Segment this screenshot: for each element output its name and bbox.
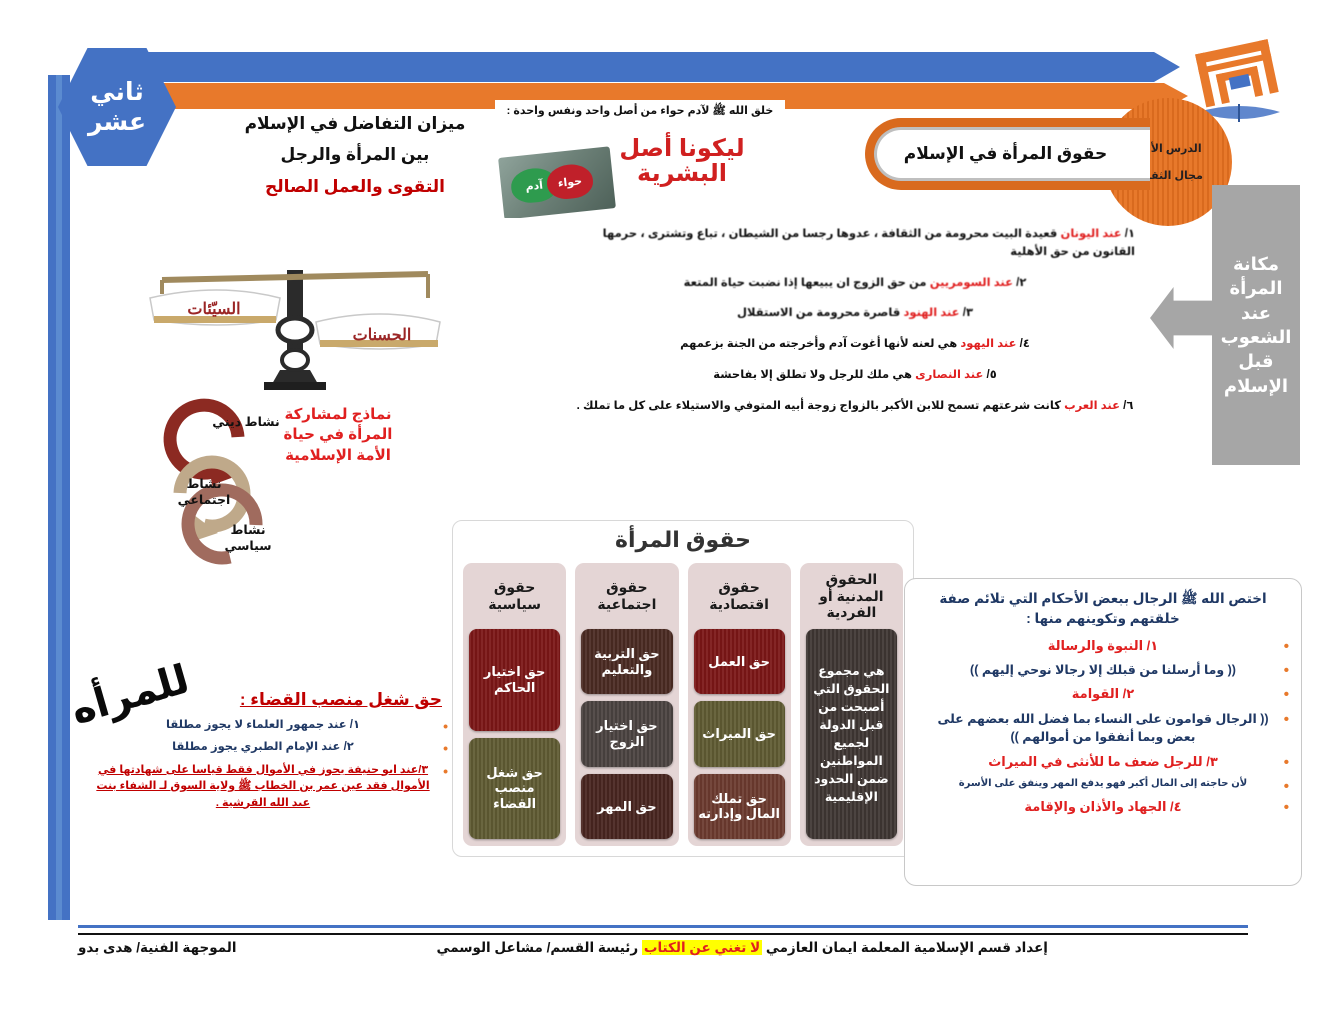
item-number: ٣/ <box>963 307 973 319</box>
cycle-label-social: نشاط اجتماعي <box>162 477 246 508</box>
footer-divider-black <box>78 933 1248 935</box>
pre-islam-list: ١/ عند اليونان قعيدة البيت محرومة من الث… <box>575 226 1135 429</box>
item-number: ٤/ <box>1020 338 1030 350</box>
men-rulings-panel: اختص الله ﷺ الرجال ببعض الأحكام التي تلا… <box>904 578 1302 886</box>
adam-eve-top-text: خلق الله ﷺ لآدم حواء من أصل واحد ونفس وا… <box>495 100 785 120</box>
list-item: ٣/ للرجل ضعف ما للأنثى في الميراث <box>917 753 1289 772</box>
rights-column-social: حقوق اجتماعية حق التربية والتعليم حق اخت… <box>575 563 678 846</box>
list-item: ٢/ عند السومريين من حق الزوج ان يبيعها إ… <box>575 275 1135 293</box>
list-item: ٢/ عند الإمام الطبري يجوز مطلقا <box>78 739 448 756</box>
rights-columns: حقوق سياسية حق اختيار الحاكم حق شغل منصب… <box>463 563 903 846</box>
list-item: ١/ عند اليونان قعيدة البيت محرومة من الث… <box>575 226 1135 262</box>
item-highlight: عند اليونان <box>1061 228 1122 240</box>
rights-chip: حق شغل منصب القضاء <box>469 738 560 840</box>
footer-divider-blue <box>78 925 1248 928</box>
page-title: حقوق المرأة في الإسلام <box>904 144 1107 164</box>
column-heading: حقوق اقتصادية <box>694 570 785 622</box>
poster-canvas: ثاني عشر الدرس الأول مجال الثقافة حقو <box>0 0 1320 1020</box>
men-rulings-heading: اختص الله ﷺ الرجال ببعض الأحكام التي تلا… <box>917 589 1289 630</box>
scale-pan-right-label: الحسنات <box>353 327 412 344</box>
rights-chip: حق اختيار الزوج <box>581 701 672 766</box>
item-text: قاصرة محرومة من الاستقلال <box>737 307 900 319</box>
list-item: ٣/عند ابو حنيفة يجوز في الأموال فقط قياس… <box>78 762 448 812</box>
rights-chip: حق التربية والتعليم <box>581 629 672 694</box>
item-text: كانت شرعتهم تسمح للابن الأكبر بالزواج زو… <box>577 400 1061 412</box>
item-highlight: عند السومريين <box>930 277 1013 289</box>
column-heading: حقوق اجتماعية <box>581 570 672 622</box>
rights-chart: حقوق المرأة حقوق سياسية حق اختيار الحاكم… <box>452 520 914 857</box>
item-highlight: عند العرب <box>1064 400 1120 412</box>
item-text: هي لعنه لأنها أغوت آدم وأخرجته من الجنة … <box>680 338 957 350</box>
item-highlight: عند النصارى <box>915 369 983 381</box>
item-text: من حق الزوج ان يبيعها إذا نضبت حياة المت… <box>684 277 927 289</box>
adam-eve-big-text: ليكونا أصل البشرية <box>587 136 777 186</box>
balance-heading-line3: التقوى والعمل الصالح <box>205 171 505 202</box>
list-item: ٤/ الجهاد والأذان والإقامة <box>917 798 1289 817</box>
rights-chip: حق اختيار الحاكم <box>469 629 560 731</box>
column-heading: حقوق سياسية <box>469 570 560 622</box>
balance-heading-line1: ميزان التفاضل في الإسلام <box>205 108 505 139</box>
rights-column-economic: حقوق اقتصادية حق العمل حق الميراث حق تمل… <box>688 563 791 846</box>
footer-highlight-note: لا تغني عن الكتاب <box>642 940 762 955</box>
footer-credits: إعداد قسم الإسلامية المعلمة ايمان العازم… <box>236 940 1248 956</box>
eve-leaf-icon: حواء <box>545 162 594 201</box>
rights-chip: حق الميراث <box>694 701 785 766</box>
adam-eve-card: خلق الله ﷺ لآدم حواء من أصل واحد ونفس وا… <box>495 100 785 218</box>
list-item: ٢/ القوامة <box>917 685 1289 704</box>
list-item: ٥/ عند النصارى هي ملك للرجل ولا تطلق إلا… <box>575 367 1135 385</box>
footer-credit-a: إعداد قسم الإسلامية المعلمة ايمان العازم… <box>766 940 1048 955</box>
cycle-caption: نماذج لمشاركة المرأة في حياة الأمة الإسل… <box>278 405 398 466</box>
scale-pan-left-label: السيّئات <box>187 301 240 318</box>
list-item: لأن حاجته إلى المال أكبر فهو يدفع المهر … <box>917 777 1289 792</box>
list-item: ٣/ عند الهنود قاصرة محرومة من الاستقلال <box>575 305 1135 323</box>
balance-scale-illustration: السيّئات الحسنات <box>140 252 450 397</box>
adam-eve-image: آدم حواء <box>498 146 616 218</box>
header-banner-blue <box>120 52 1180 82</box>
balance-heading-line2: بين المرأة والرجل <box>205 139 505 170</box>
item-number: ٦/ <box>1123 400 1133 412</box>
rights-column-civil: الحقوق المدنية أو الفردية هي مجموع الحقو… <box>800 563 903 846</box>
side-panel-text: مكانة المرأة عند الشعوب قبل الإسلام <box>1218 252 1294 398</box>
footer-supervisor: الموجهة الفنية/ هدى بدو <box>78 940 236 956</box>
item-highlight: عند الهنود <box>903 307 959 319</box>
item-number: ٢/ <box>1016 277 1026 289</box>
cycle-label-political: نشاط سياسي <box>206 523 290 554</box>
chapter-badge-line1: ثاني <box>90 77 143 107</box>
rights-chart-title: حقوق المرأة <box>453 527 913 553</box>
judiciary-item-underlined: ٣/عند ابو حنيفة يجوز في الأموال فقط قياس… <box>96 764 429 809</box>
list-item: (( وما أرسلنا من قبلك إلا رجالا نوحي إلي… <box>917 661 1289 679</box>
list-item: ٦/ عند العرب كانت شرعتهم تسمح للابن الأك… <box>575 398 1135 416</box>
side-panel-label: مكانة المرأة عند الشعوب قبل الإسلام <box>1212 185 1300 465</box>
rights-chip: حق العمل <box>694 629 785 694</box>
rights-chip: حق المهر <box>581 774 672 839</box>
item-text: هي ملك للرجل ولا تطلق إلا بفاحشة <box>713 369 912 381</box>
left-arrow-icon <box>1150 287 1212 349</box>
list-item: ٤/ عند اليهود هي لعنه لأنها أغوت آدم وأخ… <box>575 336 1135 354</box>
list-item: ١/ النبوة والرسالة <box>917 637 1289 656</box>
rights-column-political: حقوق سياسية حق اختيار الحاكم حق شغل منصب… <box>463 563 566 846</box>
list-item: ١/ عند جمهور العلماء لا يجوز مطلقا <box>78 717 448 734</box>
rights-chip: هي مجموع الحقوق التي أصبحت من قبل الدولة… <box>806 629 897 839</box>
item-highlight: عند اليهود <box>960 338 1016 350</box>
item-number: ١/ <box>1125 228 1135 240</box>
left-accent-bar-highlight <box>56 75 62 920</box>
list-item: (( الرجال قوامون على النساء بما فضل الله… <box>917 710 1289 746</box>
item-text: قعيدة البيت محرومة من الثقافة ، عدوها رج… <box>603 228 1135 258</box>
judiciary-block: للمرأه حق شغل منصب القضاء : ١/ عند جمهور… <box>78 690 448 816</box>
rights-chip: حق تملك المال وإدارته <box>694 774 785 839</box>
footer-credit-b: رئيسة القسم/ مشاعل الوسمي <box>437 940 639 955</box>
column-heading: الحقوق المدنية أو الفردية <box>806 570 897 622</box>
chapter-badge-line2: عشر <box>88 107 146 137</box>
balance-heading: ميزان التفاضل في الإسلام بين المرأة والر… <box>205 108 505 202</box>
men-rulings-list: ١/ النبوة والرسالة (( وما أرسلنا من قبلك… <box>917 637 1289 817</box>
main-title-inner: حقوق المرأة في الإسلام <box>874 127 1150 181</box>
main-title-banner: حقوق المرأة في الإسلام <box>865 118 1150 190</box>
judiciary-list: ١/ عند جمهور العلماء لا يجوز مطلقا ٢/ عن… <box>78 717 448 811</box>
cycle-label-religious: نشاط ديني <box>204 415 288 431</box>
item-number: ٥/ <box>987 369 997 381</box>
footer: إعداد قسم الإسلامية المعلمة ايمان العازم… <box>78 940 1248 956</box>
